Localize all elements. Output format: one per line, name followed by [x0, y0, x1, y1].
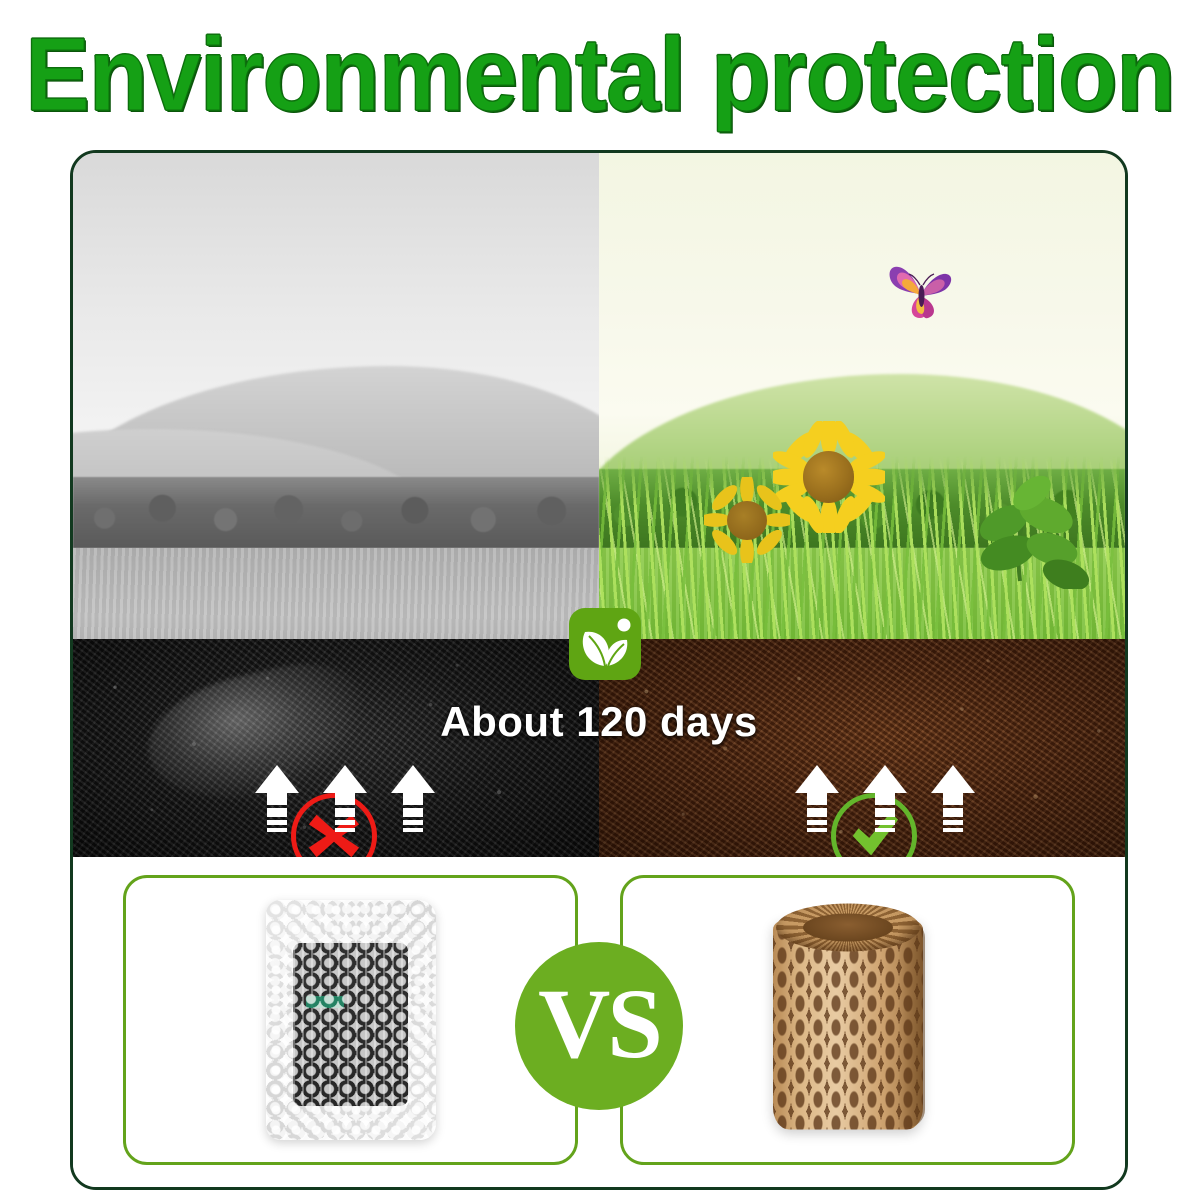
- gray-sky: [73, 153, 599, 548]
- gray-treeline: [73, 477, 599, 548]
- up-arrow-icon: [929, 763, 977, 839]
- sunflower-secondary: [704, 477, 790, 563]
- bubble-texture: [266, 900, 436, 1140]
- content-frame: About 120 days: [70, 150, 1128, 1190]
- decomposition-comparison-scene: About 120 days: [73, 153, 1125, 858]
- plastic-bubble-wrap-bag: [266, 900, 436, 1140]
- up-arrow-icon: [253, 763, 301, 839]
- kraft-roll-edge-shadow: [899, 922, 925, 1128]
- vs-label: VS: [538, 974, 660, 1074]
- paper-scene-half: [599, 153, 1125, 858]
- sunflower-center: [803, 451, 855, 503]
- leaf-plant: [946, 449, 1096, 589]
- kraft-roll-opening: [803, 914, 893, 942]
- vs-badge: VS: [515, 942, 683, 1110]
- product-panel-plastic[interactable]: [123, 875, 578, 1165]
- page-title-bar: Environmental protection: [0, 0, 1200, 150]
- page-title: Environmental protection: [25, 23, 1174, 127]
- honeycomb-kraft-paper-roll: [773, 898, 923, 1143]
- up-arrow-icon: [321, 763, 369, 839]
- sunflower-center-small: [727, 501, 767, 541]
- up-arrow-icon: [793, 763, 841, 839]
- plastic-scene-half: [73, 153, 599, 858]
- leaf-sprout-icon: [569, 608, 641, 680]
- butterfly-icon: [878, 252, 966, 324]
- arrow-group-left: [253, 763, 437, 839]
- product-comparison-section: VS: [73, 857, 1125, 1187]
- up-arrow-icon: [861, 763, 909, 839]
- up-arrow-icon: [389, 763, 437, 839]
- product-panel-kraft[interactable]: [620, 875, 1075, 1165]
- arrow-group-right: [793, 763, 977, 839]
